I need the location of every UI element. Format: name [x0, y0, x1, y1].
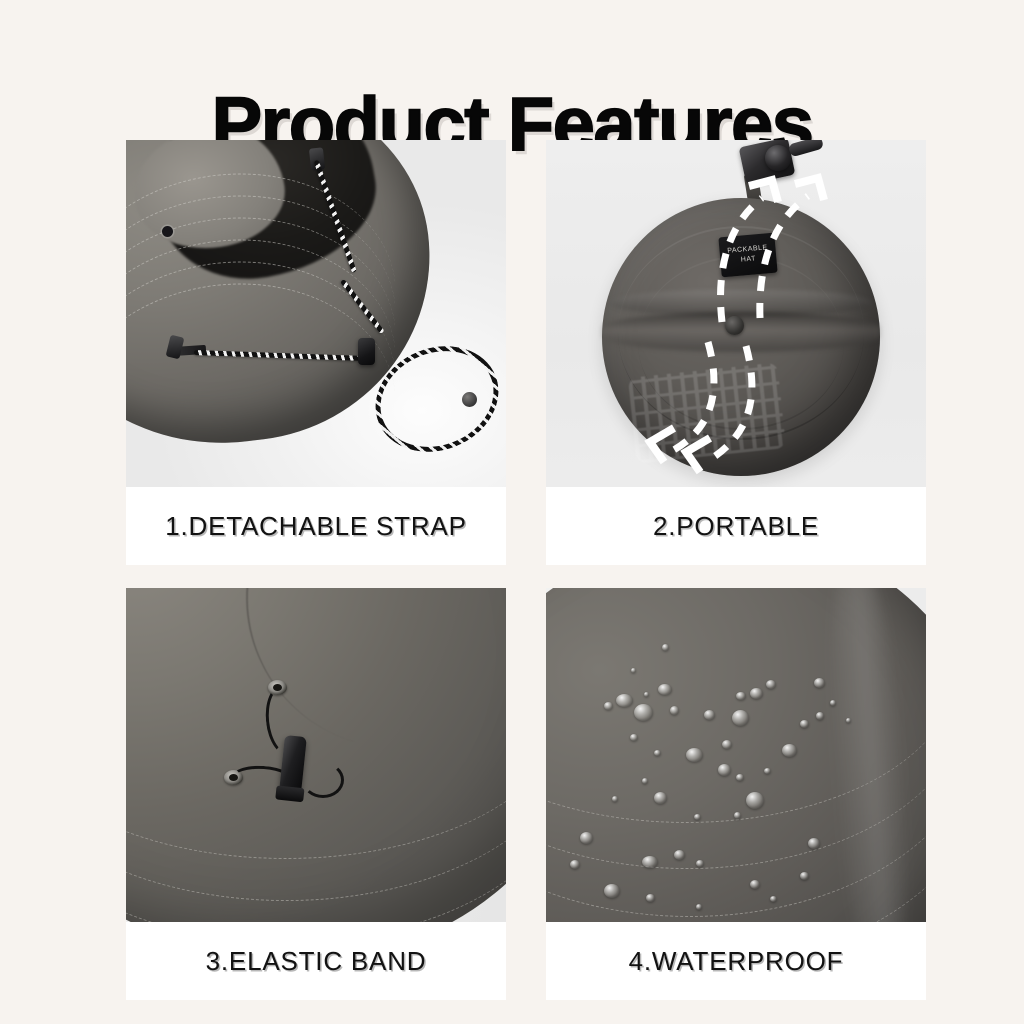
features-grid: 1.DETACHABLE STRAP PACKABLE HAT	[126, 140, 926, 1000]
water-droplet	[734, 812, 741, 819]
hat-eyelet	[162, 226, 173, 237]
folding-arrow-lower-right-head	[686, 438, 710, 472]
water-droplet	[750, 688, 763, 699]
water-droplet	[654, 750, 661, 756]
feature-caption-text: 3.ELASTIC BAND	[206, 946, 427, 977]
water-droplet	[634, 704, 653, 721]
water-droplet	[766, 680, 776, 689]
water-droplet	[642, 778, 648, 784]
water-droplet	[770, 896, 777, 902]
feature-photo-waterproof	[546, 588, 926, 922]
water-droplet	[800, 872, 809, 880]
water-droplet	[630, 734, 638, 741]
folding-arrow-upper-right-head	[795, 178, 824, 200]
cord-end-bead	[462, 392, 477, 407]
water-droplet	[580, 832, 593, 844]
feature-card-portable[interactable]: PACKABLE HAT	[546, 140, 926, 565]
water-droplet	[631, 668, 636, 673]
water-droplet	[646, 894, 655, 902]
water-droplet	[722, 740, 732, 749]
water-droplet	[764, 768, 771, 774]
folding-arrow-lower-left-head	[650, 428, 674, 462]
water-droplet	[696, 860, 704, 867]
water-droplet	[662, 644, 669, 651]
folding-arrows	[546, 140, 926, 487]
water-droplet	[604, 884, 620, 898]
water-droplet	[736, 774, 744, 781]
water-droplet	[718, 764, 731, 776]
water-droplet	[736, 692, 746, 700]
feature-caption-text: 2.PORTABLE	[653, 511, 819, 542]
water-droplet	[570, 860, 580, 869]
feature-caption-portable: 2.PORTABLE	[546, 487, 926, 565]
cord-toggle	[358, 338, 375, 365]
water-droplet	[746, 792, 764, 809]
feature-caption-waterproof: 4.WATERPROOF	[546, 922, 926, 1000]
water-droplet	[800, 720, 809, 728]
water-droplet	[674, 850, 685, 860]
feature-card-elastic-band[interactable]: 3.ELASTIC BAND	[126, 588, 506, 1000]
folding-arrow-upper-left-head	[749, 180, 778, 202]
feature-caption-text: 4.WATERPROOF	[629, 946, 844, 977]
water-droplet	[616, 694, 633, 707]
folding-arrow-upper-left-path	[721, 198, 762, 322]
feature-photo-portable: PACKABLE HAT	[546, 140, 926, 487]
water-droplet	[808, 838, 820, 849]
folding-arrow-upper-right-path	[760, 196, 808, 318]
feature-card-detachable-strap[interactable]: 1.DETACHABLE STRAP	[126, 140, 506, 565]
feature-caption-text: 1.DETACHABLE STRAP	[165, 511, 466, 542]
water-droplet	[670, 706, 679, 715]
water-droplet	[686, 748, 703, 762]
water-droplet	[732, 710, 749, 726]
feature-card-waterproof[interactable]: 4.WATERPROOF	[546, 588, 926, 1000]
water-droplet	[644, 692, 649, 697]
water-droplet	[604, 702, 613, 710]
elastic-cord-loop	[302, 762, 344, 798]
water-droplet	[704, 710, 715, 720]
water-droplet	[846, 718, 851, 723]
water-droplet	[782, 744, 797, 757]
water-droplet	[816, 712, 824, 720]
feature-photo-elastic-band	[126, 588, 506, 922]
water-droplet	[814, 678, 825, 688]
water-droplet	[694, 814, 701, 820]
feature-photo-detachable-strap	[126, 140, 506, 487]
water-droplet	[642, 856, 658, 868]
water-droplet	[696, 904, 702, 910]
water-droplet	[658, 684, 672, 695]
water-droplet	[830, 700, 836, 706]
water-droplet	[654, 792, 667, 804]
water-droplet	[612, 796, 618, 802]
water-droplet	[750, 880, 760, 889]
feature-caption-elastic-band: 3.ELASTIC BAND	[126, 922, 506, 1000]
feature-caption-detachable-strap: 1.DETACHABLE STRAP	[126, 487, 506, 565]
